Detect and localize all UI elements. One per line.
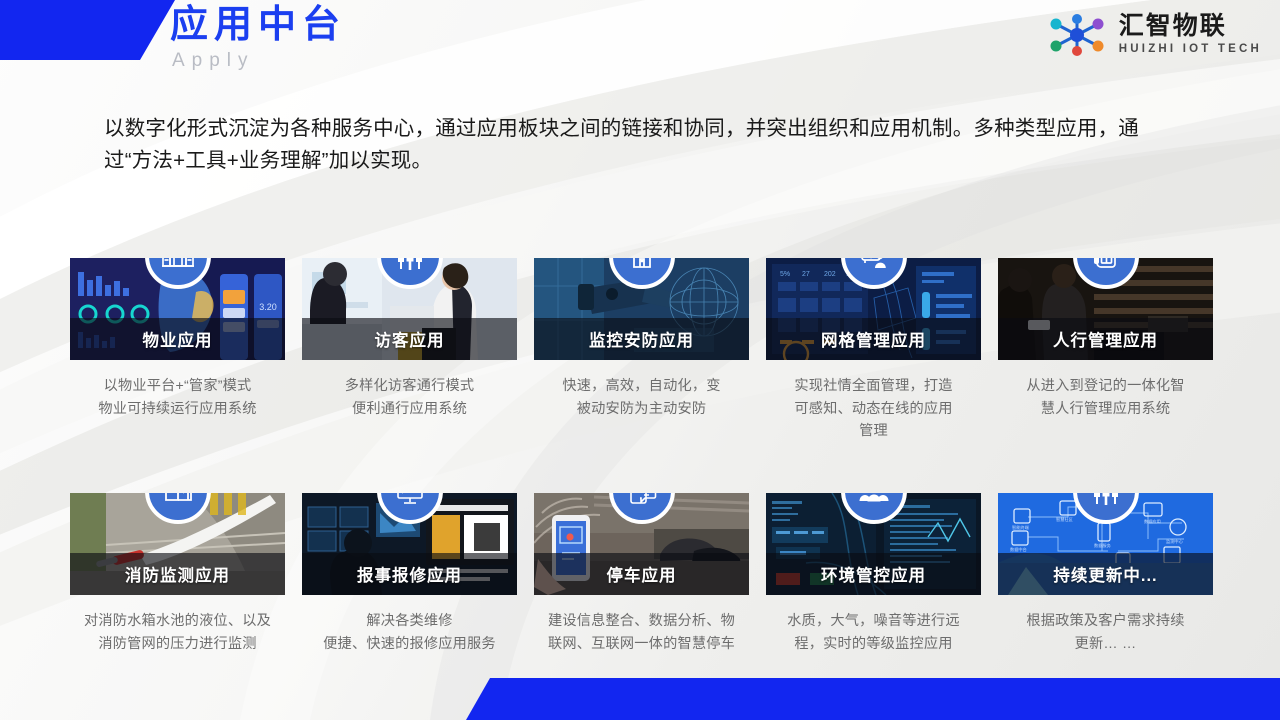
intro-paragraph: 以数字化形式沉淀为各种服务中心，通过应用板块之间的链接和协同，并突出组织和应用机… [104, 113, 1174, 177]
slide-canvas: 应用中台 Apply 汇智物联 HUIZHI IOT TECH 以数字化形式沉淀… [0, 0, 1280, 720]
footer-parallelogram [0, 678, 1280, 720]
card-description: 建设信息整合、数据分析、物 联网、互联网一体的智慧停车 [534, 610, 749, 655]
card-title: 消防监测应用 [70, 562, 285, 586]
svg-text:数据中台: 数据中台 [1010, 546, 1027, 553]
card-title: 监控安防应用 [534, 327, 749, 351]
card-thumbnail: 报事报修应用 [302, 493, 517, 595]
svg-text:监测中心: 监测中心 [1166, 538, 1184, 545]
svg-text:智慧社区: 智慧社区 [1056, 516, 1073, 523]
brand-logo: 汇智物联 HUIZHI IOT TECH [1044, 12, 1262, 58]
svg-text:3.20: 3.20 [259, 302, 277, 312]
card-thumbnail: 人行管理应用 [998, 258, 1213, 360]
card-title: 持续更新中... [998, 562, 1213, 586]
card-title: 访客应用 [302, 327, 517, 351]
card-thumbnail: 停车应用 [534, 493, 749, 595]
header-parallelogram [0, 0, 175, 60]
card-thumbnail: 监控安防应用 [534, 258, 749, 360]
page-title: 应用中台 [170, 6, 346, 44]
card-description: 根据政策及客户需求持续 更新… … [998, 610, 1213, 655]
card-baoshi[interactable]: 报事报修应用 解决各类维修 便捷、快速的报修应用服务 [302, 493, 517, 655]
molecule-network-icon [1044, 12, 1110, 58]
card-description: 实现社情全面管理，打造 可感知、动态在线的应用 管理 [766, 375, 981, 443]
card-jiankong[interactable]: 监控安防应用 快速，高效，自动化，变 被动安防为主动安防 [534, 258, 749, 443]
card-description: 水质，大气，噪音等进行远 程，实时的等级监控应用 [766, 610, 981, 655]
card-thumbnail: 访客应用 [302, 258, 517, 360]
card-fangke[interactable]: 访客应用 多样化访客通行模式 便利通行应用系统 [302, 258, 517, 443]
card-title: 停车应用 [534, 562, 749, 586]
card-description: 从进入到登记的一体化智 慧人行管理应用系统 [998, 375, 1213, 420]
page-subtitle: Apply [172, 50, 255, 72]
card-title: 环境管控应用 [766, 562, 981, 586]
logo-text-cn: 汇智物联 [1119, 14, 1262, 39]
card-description: 解决各类维修 便捷、快速的报修应用服务 [302, 610, 517, 655]
svg-text:智能终端: 智能终端 [1012, 524, 1029, 531]
card-thumbnail: 环境管控应用 [766, 493, 981, 595]
svg-text:5%: 5% [780, 271, 790, 278]
card-wuye[interactable]: 3.20 物业应用 以物业平台+“管家”模 [70, 258, 285, 443]
card-huanjing[interactable]: 环境管控应用 水质，大气，噪音等进行远 程，实时的等级监控应用 [766, 493, 981, 655]
svg-text:数据应用: 数据应用 [1144, 518, 1161, 525]
card-row-1: 3.20 物业应用 以物业平台+“管家”模 [70, 258, 1212, 443]
card-description: 多样化访客通行模式 便利通行应用系统 [302, 375, 517, 420]
card-thumbnail: 消防监测应用 [70, 493, 285, 595]
svg-text:27: 27 [802, 271, 810, 278]
card-row-2: 消防监测应用 对消防水箱水池的液位、以及 消防管网的压力进行监测 [70, 493, 1212, 655]
card-title: 物业应用 [70, 327, 285, 351]
card-title: 报事报修应用 [302, 562, 517, 586]
card-tingche[interactable]: 停车应用 建设信息整合、数据分析、物 联网、互联网一体的智慧停车 [534, 493, 749, 655]
card-chixugengxin[interactable]: 智能终端数据中台 智慧社区数据服务 数据应用监测中心 持续更新中... [998, 493, 1213, 655]
logo-text-en: HUIZHI IOT TECH [1119, 44, 1262, 56]
card-wangge[interactable]: 5%27202118 [766, 258, 981, 443]
svg-text:$: $ [868, 258, 873, 260]
card-thumbnail: 5%27202118 [766, 258, 981, 360]
card-renxing[interactable]: 人行管理应用 从进入到登记的一体化智 慧人行管理应用系统 [998, 258, 1213, 443]
card-description: 快速，高效，自动化，变 被动安防为主动安防 [534, 375, 749, 420]
card-title: 网格管理应用 [766, 327, 981, 351]
svg-text:数据服务: 数据服务 [1094, 542, 1112, 549]
card-description: 以物业平台+“管家”模式 物业可持续运行应用系统 [70, 375, 285, 420]
svg-text:202: 202 [824, 271, 836, 278]
card-thumbnail: 3.20 物业应用 [70, 258, 285, 360]
card-xiaofang[interactable]: 消防监测应用 对消防水箱水池的液位、以及 消防管网的压力进行监测 [70, 493, 285, 655]
card-description: 对消防水箱水池的液位、以及 消防管网的压力进行监测 [70, 610, 285, 655]
card-title: 人行管理应用 [998, 327, 1213, 351]
card-thumbnail: 智能终端数据中台 智慧社区数据服务 数据应用监测中心 持续更新中... [998, 493, 1213, 595]
